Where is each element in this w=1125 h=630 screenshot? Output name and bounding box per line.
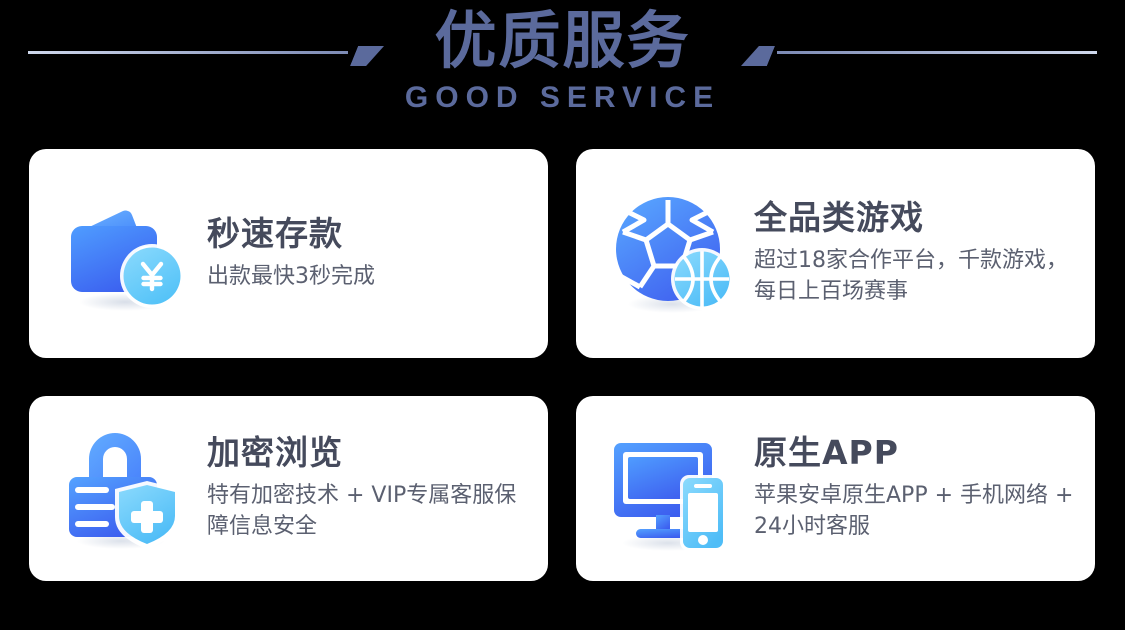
title-block: 优质服务 GOOD SERVICE xyxy=(0,8,1125,115)
page-title: 优质服务 xyxy=(434,8,690,75)
wallet-coin-icon-svg xyxy=(59,184,199,324)
card-text-block: 加密浏览 特有加密技术 + VIP专属客服保障信息安全 xyxy=(207,434,527,544)
wallet-coin-icon xyxy=(59,184,199,324)
lock-shield-icon xyxy=(59,419,199,559)
card-text-block: 全品类游戏 超过18家合作平台，千款游戏，每日上百场赛事 xyxy=(754,199,1084,309)
lock-shield-icon-svg xyxy=(59,419,199,559)
page-root: 优质服务 GOOD SERVICE xyxy=(0,0,1125,630)
soccer-basketball-icon-svg xyxy=(606,184,746,324)
monitor-phone-icon-svg xyxy=(606,419,746,559)
feature-card-all-category-games[interactable]: 全品类游戏 超过18家合作平台，千款游戏，每日上百场赛事 xyxy=(576,149,1095,358)
card-description: 苹果安卓原生APP + 手机网络 + 24小时客服 xyxy=(754,480,1084,544)
card-description: 超过18家合作平台，千款游戏，每日上百场赛事 xyxy=(754,245,1084,309)
page-header: 优质服务 GOOD SERVICE xyxy=(0,0,1125,140)
card-title: 原生APP xyxy=(754,434,1084,472)
page-subtitle: GOOD SERVICE xyxy=(405,81,720,115)
feature-card-native-app[interactable]: 原生APP 苹果安卓原生APP + 手机网络 + 24小时客服 xyxy=(576,396,1095,581)
card-text-block: 秒速存款 出款最快3秒完成 xyxy=(207,215,375,293)
card-description: 特有加密技术 + VIP专属客服保障信息安全 xyxy=(207,480,527,544)
card-description: 出款最快3秒完成 xyxy=(207,261,375,293)
card-title: 全品类游戏 xyxy=(754,199,1084,237)
feature-card-instant-deposit[interactable]: 秒速存款 出款最快3秒完成 xyxy=(29,149,548,358)
card-title: 秒速存款 xyxy=(207,215,375,253)
feature-card-encrypted-browsing[interactable]: 加密浏览 特有加密技术 + VIP专属客服保障信息安全 xyxy=(29,396,548,581)
card-title: 加密浏览 xyxy=(207,434,527,472)
soccer-basketball-icon xyxy=(606,184,746,324)
monitor-phone-icon xyxy=(606,419,746,559)
card-text-block: 原生APP 苹果安卓原生APP + 手机网络 + 24小时客服 xyxy=(754,434,1084,544)
